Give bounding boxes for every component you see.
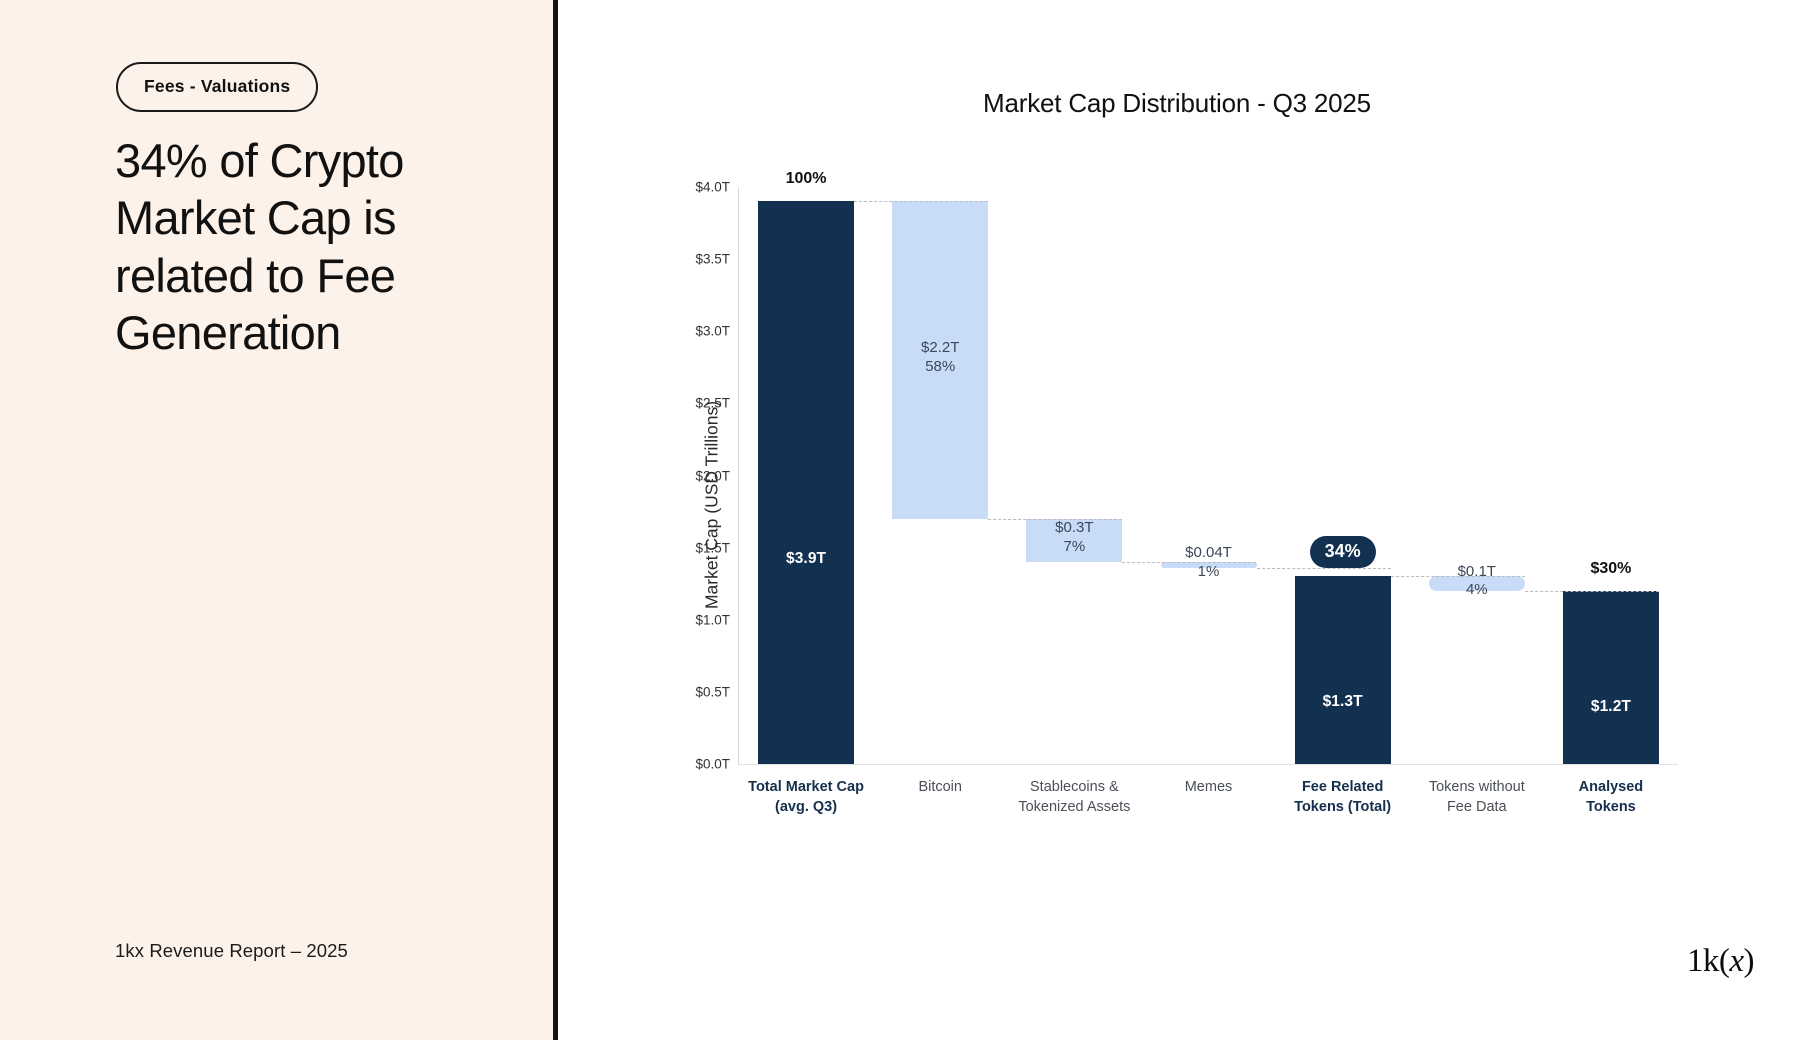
y-axis-tick: $1.0T <box>695 612 730 627</box>
plot-area: $4.0T$3.5T$3.0T$2.5T$2.0T$1.5T$1.0T$0.5T… <box>738 187 1678 765</box>
waterfall-connector <box>1391 576 1525 577</box>
bar-stablecoins-tokenized-assets: $0.3T 7% <box>1026 519 1122 562</box>
brand-logo: 1k(x) <box>1687 943 1754 980</box>
bar-value-label: $2.2T 58% <box>874 339 1006 377</box>
left-panel: Fees - Valuations 34% of Crypto Market C… <box>0 0 558 1040</box>
waterfall-connector <box>1525 591 1659 592</box>
y-axis-tick: $4.0T <box>695 180 730 195</box>
waterfall-connector <box>1257 568 1391 569</box>
bar-top-label: $30% <box>1563 560 1659 578</box>
bar-analysed-tokens: $1.2T <box>1563 591 1659 764</box>
bar-tokens-without-fee-data: $0.1T 4% <box>1429 576 1525 590</box>
brand-logo-prefix: 1k( <box>1687 943 1730 979</box>
eyebrow-badge: Fees - Valuations <box>116 62 318 112</box>
brand-logo-suffix: ) <box>1744 943 1755 979</box>
bar-value-label: $0.1T 4% <box>1411 563 1543 601</box>
footer-note: 1kx Revenue Report – 2025 <box>115 940 348 962</box>
y-axis-tick: $2.5T <box>695 396 730 411</box>
bar-total-market-cap-avg-q3: $3.9T <box>758 201 854 764</box>
brand-logo-x: x <box>1729 943 1743 979</box>
y-axis-tick: $0.5T <box>695 684 730 699</box>
slide-root: Fees - Valuations 34% of Crypto Market C… <box>0 0 1796 1040</box>
y-axis-title: Market Cap (USD Trillions) <box>702 401 723 609</box>
y-axis-tick: $0.0T <box>695 757 730 772</box>
chart-title: Market Cap Distribution - Q3 2025 <box>558 88 1796 119</box>
y-axis-tick: $3.5T <box>695 252 730 267</box>
bar-value-label: $0.3T 7% <box>1008 519 1140 557</box>
bar-value-label: $1.2T <box>1563 698 1659 716</box>
bar-value-label: $1.3T <box>1295 693 1391 711</box>
chart-area: Market Cap (USD Trillions) $4.0T$3.5T$3.… <box>666 165 1766 845</box>
y-axis-tick: $2.0T <box>695 468 730 483</box>
waterfall-connector <box>854 201 988 202</box>
bar-fee-related-tokens-total: $1.3T <box>1295 576 1391 764</box>
page-title: 34% of Crypto Market Cap is related to F… <box>115 132 515 361</box>
bar-top-label: 100% <box>758 170 854 188</box>
bar-bitcoin: $2.2T 58% <box>892 201 988 518</box>
waterfall-connector <box>1122 562 1256 563</box>
waterfall-connector <box>988 519 1122 520</box>
y-axis-tick: $1.5T <box>695 540 730 555</box>
right-panel: Market Cap Distribution - Q3 2025 Market… <box>558 0 1796 1040</box>
bar-value-label: $3.9T <box>758 550 854 568</box>
highlight-badge: 34% <box>1310 536 1376 568</box>
x-axis-label: Analysed Tokens <box>1516 778 1706 817</box>
eyebrow-label: Fees - Valuations <box>144 76 290 96</box>
y-axis-tick: $3.0T <box>695 324 730 339</box>
